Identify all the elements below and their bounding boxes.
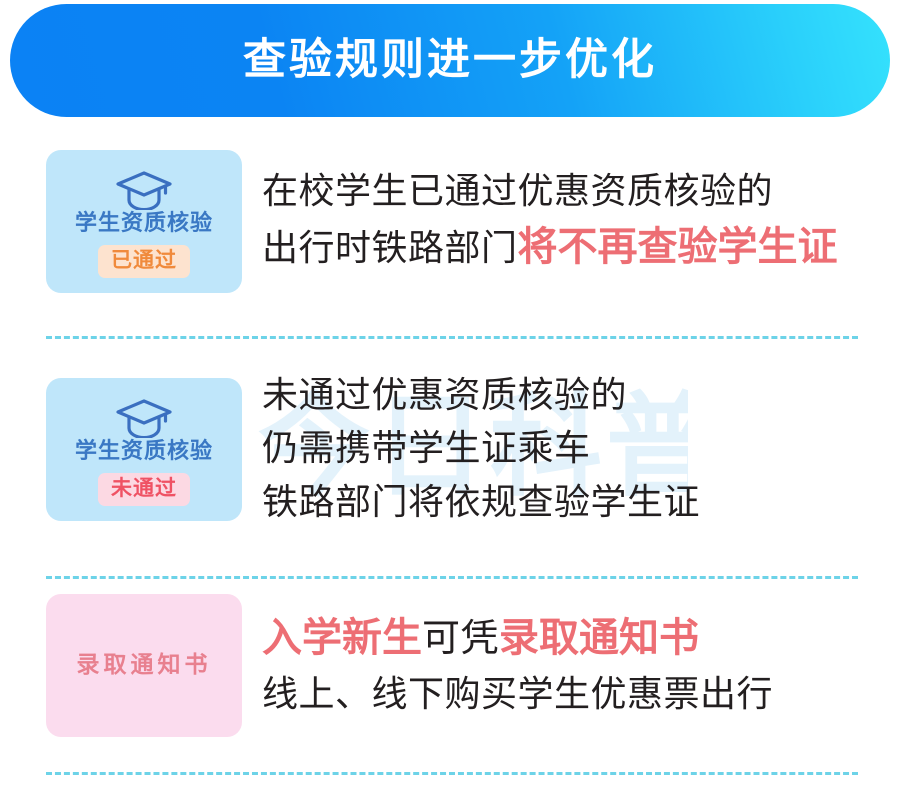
status-card-admission-letter[interactable]: 录取通知书 xyxy=(46,594,242,737)
card-label: 学生资质核验 xyxy=(75,212,213,236)
rule-text-emphasis: 将不再查验学生证 xyxy=(518,224,838,270)
rule-line: 入学新生可凭录取通知书 xyxy=(262,609,890,668)
rule-text-segment: 可凭 xyxy=(422,616,499,660)
header-banner: 查验规则进一步优化 xyxy=(10,4,890,117)
rule-text-3: 入学新生可凭录取通知书 线上、线下购买学生优惠票出行 xyxy=(262,609,900,721)
graduation-cap-icon xyxy=(113,170,175,210)
rule-text-segment: 未通过优惠资质核验的 xyxy=(262,375,627,416)
rule-line: 未通过优惠资质核验的 xyxy=(262,369,890,422)
status-badge: 未通过 xyxy=(98,473,190,505)
status-card-unverified[interactable]: 学生资质核验 未通过 xyxy=(46,378,242,521)
status-badge: 已通过 xyxy=(98,245,190,277)
rule-text-segment: 出行时铁路部门 xyxy=(262,228,518,269)
infographic-page: 查验规则进一步优化 今日科普 学生资质核验 已通过 在校学生已通过优惠资质核 xyxy=(0,0,900,804)
divider-3 xyxy=(46,772,858,775)
card-label: 录取通知书 xyxy=(77,653,212,678)
rule-line: 仍需携带学生证乘车 xyxy=(262,422,890,475)
rule-text-segment: 仍需携带学生证乘车 xyxy=(262,428,591,469)
graduation-cap-icon xyxy=(113,398,175,438)
rule-line: 线上、线下购买学生优惠票出行 xyxy=(262,668,890,721)
rule-text-1: 在校学生已通过优惠资质核验的 出行时铁路部门将不再查验学生证 xyxy=(262,165,900,277)
rule-line: 在校学生已通过优惠资质核验的 xyxy=(262,165,890,218)
rule-row-3: 录取通知书 入学新生可凭录取通知书 线上、线下购买学生优惠票出行 xyxy=(0,573,900,758)
rule-text-2: 未通过优惠资质核验的 仍需携带学生证乘车 铁路部门将依规查验学生证 xyxy=(262,369,900,529)
rule-text-segment: 在校学生已通过优惠资质核验的 xyxy=(262,171,773,212)
rule-row-1: 学生资质核验 已通过 在校学生已通过优惠资质核验的 出行时铁路部门将不再查验学生… xyxy=(0,117,900,325)
status-card-verified[interactable]: 学生资质核验 已通过 xyxy=(46,150,242,293)
rule-text-segment: 线上、线下购买学生优惠票出行 xyxy=(262,674,773,715)
rule-text-segment: 铁路部门将依规查验学生证 xyxy=(262,482,700,523)
rules-list: 学生资质核验 已通过 在校学生已通过优惠资质核验的 出行时铁路部门将不再查验学生… xyxy=(0,117,900,758)
rule-text-emphasis: 入学新生 xyxy=(262,615,422,661)
rule-line: 出行时铁路部门将不再查验学生证 xyxy=(262,218,890,277)
page-title: 查验规则进一步优化 xyxy=(243,39,657,82)
card-label: 学生资质核验 xyxy=(75,440,213,464)
rule-text-emphasis: 录取通知书 xyxy=(499,615,699,661)
rule-line: 铁路部门将依规查验学生证 xyxy=(262,476,890,529)
rule-row-2: 学生资质核验 未通过 未通过优惠资质核验的 仍需携带学生证乘车 铁路部门将依规查… xyxy=(0,325,900,573)
